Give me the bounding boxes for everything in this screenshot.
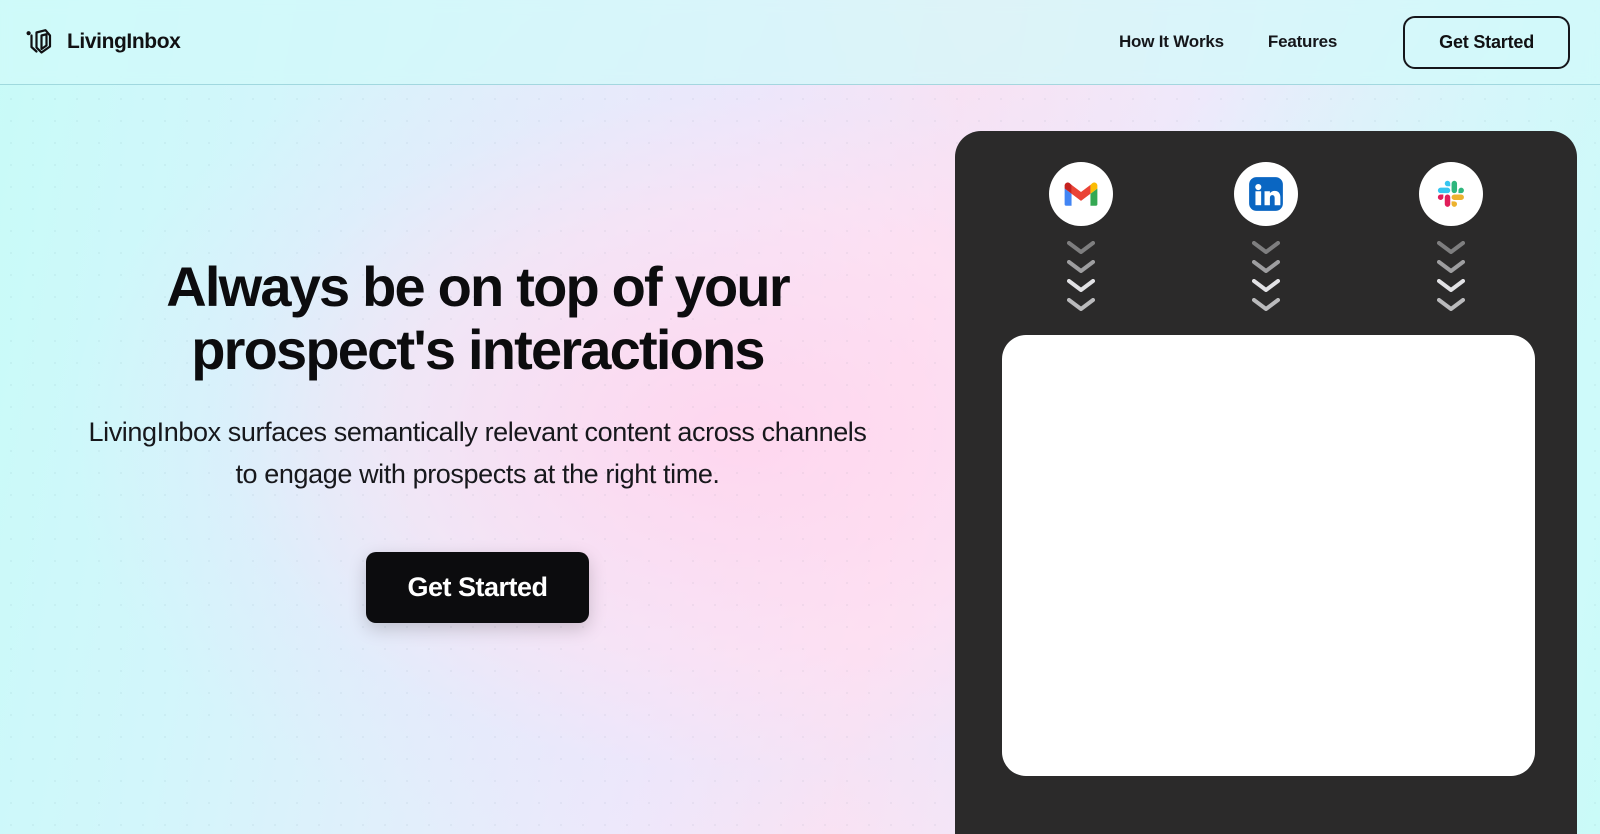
- chevron-down-icon: [1436, 278, 1466, 293]
- chevron-down-icon: [1436, 259, 1466, 274]
- header-get-started-button[interactable]: Get Started: [1403, 16, 1570, 69]
- site-header: LivingInbox How It Works Features Get St…: [0, 0, 1600, 85]
- chevron-down-icon: [1066, 297, 1096, 312]
- chevron-down-icon: [1066, 278, 1096, 293]
- hero-headline: Always be on top of your prospect's inte…: [33, 256, 923, 381]
- chevron-down-icon: [1436, 240, 1466, 255]
- chevron-down-icon: [1251, 259, 1281, 274]
- channel-gmail[interactable]: [1049, 162, 1113, 312]
- nav-link-features[interactable]: Features: [1246, 22, 1359, 62]
- nav-link-how-it-works[interactable]: How It Works: [1097, 22, 1246, 62]
- channel-linkedin[interactable]: [1234, 162, 1298, 312]
- linkedin-icon: [1234, 162, 1298, 226]
- layered-cube-logo-icon: [22, 26, 54, 58]
- chevron-down-icon: [1251, 278, 1281, 293]
- chevron-down-icon: [1436, 297, 1466, 312]
- brand-name: LivingInbox: [67, 30, 180, 54]
- hero-subheadline: LivingInbox surfaces semantically releva…: [83, 412, 873, 496]
- gmail-icon: [1049, 162, 1113, 226]
- chevron-down-icon: [1251, 240, 1281, 255]
- slack-icon: [1419, 162, 1483, 226]
- chevron-down-icon: [1251, 297, 1281, 312]
- primary-navigation: How It Works Features Get Started: [1097, 16, 1570, 69]
- channel-icon-row: [955, 162, 1577, 312]
- slack-flow-arrows: [1436, 240, 1466, 312]
- hero-section: Always be on top of your prospect's inte…: [0, 85, 955, 834]
- hero-get-started-button[interactable]: Get Started: [366, 552, 588, 623]
- linkedin-flow-arrows: [1251, 240, 1281, 312]
- gmail-flow-arrows: [1066, 240, 1096, 312]
- brand-logo[interactable]: LivingInbox: [22, 26, 180, 58]
- inbox-preview-card[interactable]: [1002, 335, 1535, 776]
- chevron-down-icon: [1066, 259, 1096, 274]
- channel-preview-panel: [955, 131, 1577, 834]
- chevron-down-icon: [1066, 240, 1096, 255]
- channel-slack[interactable]: [1419, 162, 1483, 312]
